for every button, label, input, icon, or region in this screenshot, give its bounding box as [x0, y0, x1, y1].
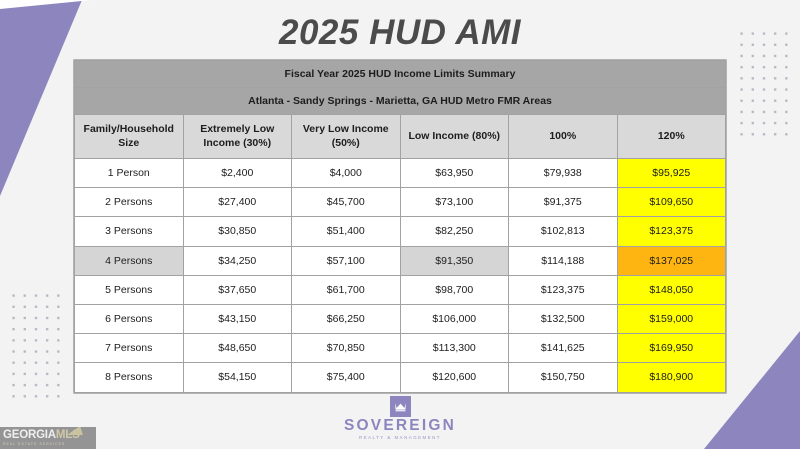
column-header-ami-120: 120% [617, 115, 726, 159]
cell-extremely-low-income: $48,650 [183, 334, 292, 363]
table-header-row: Family/Household Size Extremely Low Inco… [75, 115, 726, 159]
cell-ami-100: $123,375 [509, 275, 618, 304]
cell-ami-100: $150,750 [509, 363, 618, 392]
column-header-ami-100: 100% [509, 115, 618, 159]
cell-very-low-income: $51,400 [292, 217, 401, 246]
table-row: 8 Persons $54,150 $75,400 $120,600 $150,… [75, 363, 726, 392]
cell-very-low-income: $57,100 [292, 246, 401, 275]
table-row: 7 Persons $48,650 $70,850 $113,300 $141,… [75, 334, 726, 363]
hud-income-limits-table: Fiscal Year 2025 HUD Income Limits Summa… [74, 60, 726, 393]
cell-ami-120: $109,650 [617, 188, 726, 217]
cell-low-income: $106,000 [400, 304, 509, 333]
cell-household-size: 2 Persons [75, 188, 184, 217]
cell-extremely-low-income: $43,150 [183, 304, 292, 333]
table-row: 4 Persons $34,250 $57,100 $91,350 $114,1… [75, 246, 726, 275]
cell-extremely-low-income: $37,650 [183, 275, 292, 304]
cell-low-income: $91,350 [400, 246, 509, 275]
crown-icon [390, 396, 411, 417]
cell-extremely-low-income: $34,250 [183, 246, 292, 275]
cell-ami-100: $79,938 [509, 159, 618, 188]
cell-very-low-income: $45,700 [292, 188, 401, 217]
bottom-left-dot-pattern [6, 288, 62, 400]
sovereign-tagline: REALTY & MANAGEMENT [0, 435, 800, 440]
sovereign-logo: SOVEREIGN REALTY & MANAGEMENT [0, 396, 800, 440]
page-title: 2025 HUD AMI [0, 13, 800, 53]
cell-household-size: 3 Persons [75, 217, 184, 246]
cell-extremely-low-income: $30,850 [183, 217, 292, 246]
cell-ami-120: $95,925 [617, 159, 726, 188]
cell-very-low-income: $66,250 [292, 304, 401, 333]
cell-extremely-low-income: $2,400 [183, 159, 292, 188]
cell-household-size: 7 Persons [75, 334, 184, 363]
table-banner-row-2: Atlanta - Sandy Springs - Marietta, GA H… [75, 88, 726, 115]
banner-metro-area: Atlanta - Sandy Springs - Marietta, GA H… [75, 88, 726, 115]
cell-ami-100: $114,188 [509, 246, 618, 275]
cell-very-low-income: $61,700 [292, 275, 401, 304]
table-banner-row-1: Fiscal Year 2025 HUD Income Limits Summa… [75, 61, 726, 88]
sovereign-name: SOVEREIGN [0, 418, 800, 434]
table-row: 6 Persons $43,150 $66,250 $106,000 $132,… [75, 304, 726, 333]
cell-very-low-income: $75,400 [292, 363, 401, 392]
cell-extremely-low-income: $27,400 [183, 188, 292, 217]
watermark-tagline: REAL ESTATE SERVICES [3, 443, 80, 446]
cell-ami-120: $148,050 [617, 275, 726, 304]
cell-ami-120: $137,025 [617, 246, 726, 275]
cell-low-income: $73,100 [400, 188, 509, 217]
cell-ami-120: $123,375 [617, 217, 726, 246]
cell-ami-100: $91,375 [509, 188, 618, 217]
table-row: 2 Persons $27,400 $45,700 $73,100 $91,37… [75, 188, 726, 217]
slide-canvas: 2025 HUD AMI Fiscal Year 2025 HUD Income… [0, 0, 800, 449]
cell-low-income: $63,950 [400, 159, 509, 188]
cell-ami-120: $159,000 [617, 304, 726, 333]
table-row: 1 Person $2,400 $4,000 $63,950 $79,938 $… [75, 159, 726, 188]
column-header-extremely-low-income: Extremely Low Income (30%) [183, 115, 292, 159]
cell-household-size: 8 Persons [75, 363, 184, 392]
cell-ami-100: $102,813 [509, 217, 618, 246]
cell-ami-100: $141,625 [509, 334, 618, 363]
roof-icon [67, 427, 83, 435]
cell-household-size: 6 Persons [75, 304, 184, 333]
cell-household-size: 4 Persons [75, 246, 184, 275]
cell-low-income: $98,700 [400, 275, 509, 304]
banner-fiscal-year: Fiscal Year 2025 HUD Income Limits Summa… [75, 61, 726, 88]
top-left-white-wedge [0, 0, 92, 9]
cell-low-income: $120,600 [400, 363, 509, 392]
cell-very-low-income: $70,850 [292, 334, 401, 363]
column-header-low-income: Low Income (80%) [400, 115, 509, 159]
column-header-household-size: Family/Household Size [75, 115, 184, 159]
cell-household-size: 5 Persons [75, 275, 184, 304]
cell-ami-120: $169,950 [617, 334, 726, 363]
cell-low-income: $113,300 [400, 334, 509, 363]
cell-household-size: 1 Person [75, 159, 184, 188]
cell-ami-120: $180,900 [617, 363, 726, 392]
column-header-very-low-income: Very Low Income (50%) [292, 115, 401, 159]
cell-extremely-low-income: $54,150 [183, 363, 292, 392]
cell-ami-100: $132,500 [509, 304, 618, 333]
georgia-mls-watermark: GEORGIAMLS REAL ESTATE SERVICES [0, 427, 96, 449]
cell-very-low-income: $4,000 [292, 159, 401, 188]
table-row: 5 Persons $37,650 $61,700 $98,700 $123,3… [75, 275, 726, 304]
table-row: 3 Persons $30,850 $51,400 $82,250 $102,8… [75, 217, 726, 246]
watermark-brand-georgia: GEORGIA [3, 429, 56, 441]
cell-low-income: $82,250 [400, 217, 509, 246]
